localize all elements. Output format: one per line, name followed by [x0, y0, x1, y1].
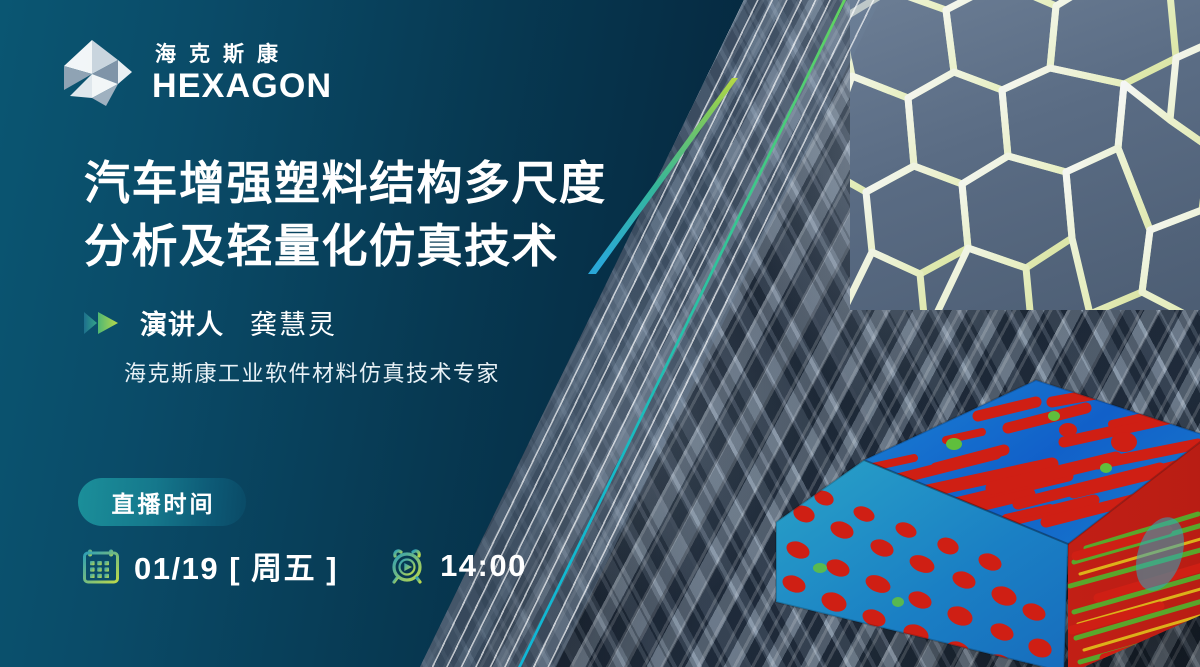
composite-simulation-cube [768, 372, 1200, 667]
speaker-label: 演讲人 [140, 303, 224, 342]
page-title-line2: 分析及轻量化仿真技术 [84, 215, 644, 278]
double-triangle-play-icon [84, 310, 126, 336]
time-group: 14:00 [388, 547, 527, 585]
speaker-row: 演讲人 龚慧灵 [84, 303, 337, 342]
live-time-badge-label: 直播时间 [109, 485, 216, 519]
live-time: 14:00 [440, 548, 527, 584]
calendar-icon [82, 547, 120, 585]
live-time-badge: 直播时间 [78, 478, 246, 526]
date-group: 01/19 [ 周五 ] [82, 543, 338, 588]
datetime-row: 01/19 [ 周五 ] [82, 543, 527, 588]
live-date: 01/19 [ 周五 ] [134, 543, 338, 588]
webinar-poster: 海克斯康 HEXAGON 汽车增强塑料结构多尺度 分析及轻量化仿真技术 [0, 0, 1200, 667]
speaker-name: 龚慧灵 [250, 303, 337, 342]
brand-wordmark: 海克斯康 HEXAGON [152, 44, 332, 103]
brand-name-en: HEXAGON [152, 69, 332, 103]
page-title: 汽车增强塑料结构多尺度 分析及轻量化仿真技术 [84, 152, 644, 277]
speaker-title: 海克斯康工业软件材料仿真技术专家 [124, 356, 500, 388]
hexagon-logo-mark-icon [62, 38, 134, 108]
alarm-clock-play-icon [388, 547, 426, 585]
brand-logo: 海克斯康 HEXAGON [62, 38, 332, 108]
voronoi-foam-image [850, 0, 1200, 310]
brand-name-cn: 海克斯康 [152, 44, 332, 65]
page-title-line1: 汽车增强塑料结构多尺度 [84, 152, 644, 215]
